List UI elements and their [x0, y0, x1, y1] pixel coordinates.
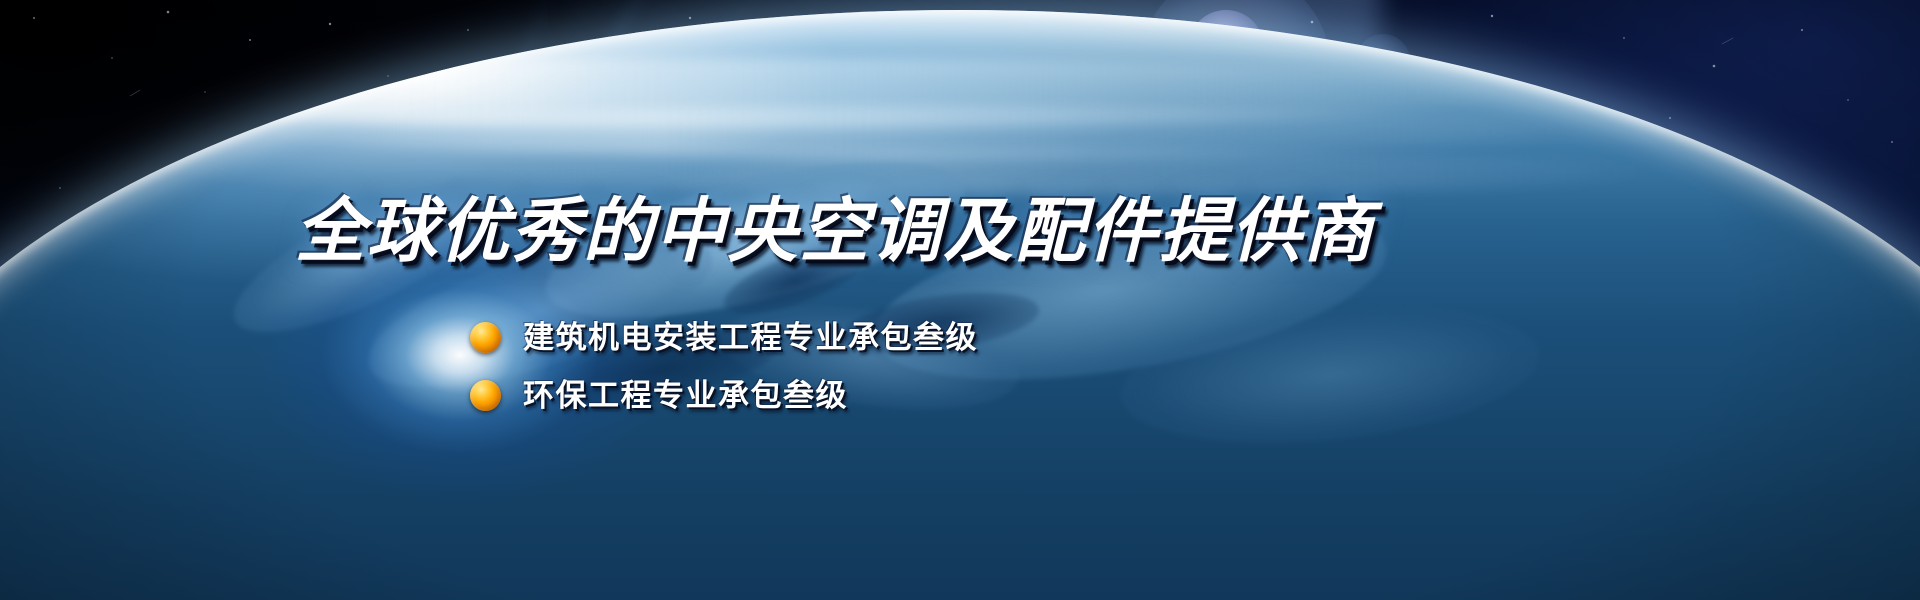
list-item-label: 建筑机电安装工程专业承包叁级: [523, 322, 978, 353]
feature-list: 建筑机电安装工程专业承包叁级 环保工程专业承包叁级: [470, 310, 1370, 426]
list-item-label: 环保工程专业承包叁级: [523, 380, 848, 411]
hero-banner: 全球优秀的中央空调及配件提供商 建筑机电安装工程专业承包叁级 环保工程专业承包叁…: [0, 0, 1920, 600]
orange-dot-icon: [470, 380, 501, 411]
list-item: 建筑机电安装工程专业承包叁级: [470, 310, 1370, 364]
orange-dot-icon: [470, 322, 501, 353]
list-item: 环保工程专业承包叁级: [470, 368, 1370, 422]
page-title: 全球优秀的中央空调及配件提供商: [0, 196, 1670, 266]
banner-content: 全球优秀的中央空调及配件提供商 建筑机电安装工程专业承包叁级 环保工程专业承包叁…: [0, 0, 1920, 600]
